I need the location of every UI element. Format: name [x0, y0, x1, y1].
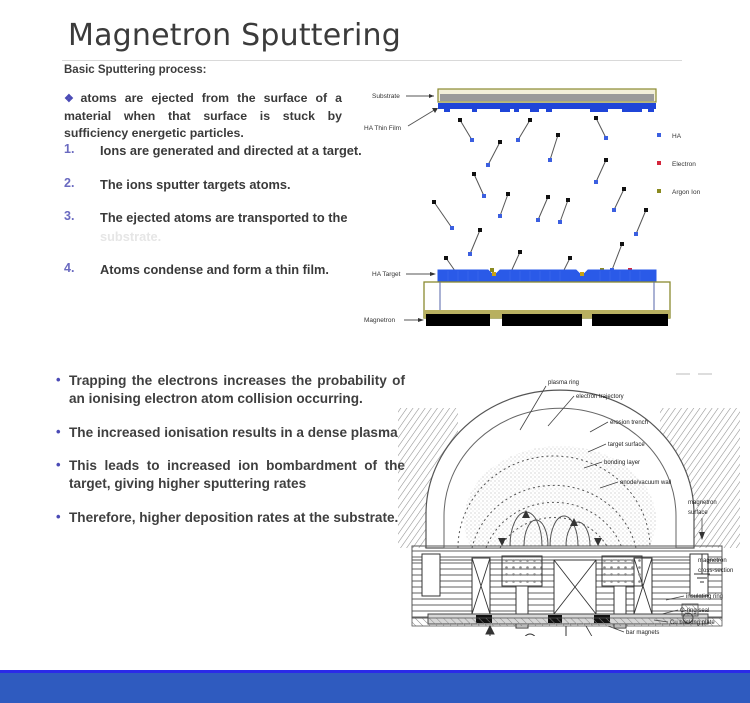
conclusion-bullet-list: Trapping the electrons increases the pro…: [55, 372, 405, 542]
step-text: Atoms condense and form a thin film.: [100, 261, 329, 280]
list-item: 3. The ejected atoms are transported to …: [64, 209, 364, 246]
lead-text: atoms are ejected from the surface of a …: [64, 91, 342, 140]
label-cu-backing-plate: Cu backing plate: [670, 620, 715, 626]
svg-text:HA Thin Film: HA Thin Film: [364, 125, 401, 132]
list-item: The increased ionisation results in a de…: [55, 424, 405, 442]
svg-text:Electron: Electron: [672, 161, 696, 168]
label-erosion-trench: erosion trench: [610, 420, 648, 426]
step-text-main: The ejected atoms are transported to the: [100, 210, 347, 225]
list-item: Trapping the electrons increases the pro…: [55, 372, 405, 409]
list-item: 1. Ions are generated and directed at a …: [64, 142, 364, 161]
step-text: Ions are generated and directed at a tar…: [100, 142, 362, 161]
footer-bar: [0, 673, 750, 703]
slide-canvas: Magnetron Sputtering Basic Sputtering pr…: [0, 0, 750, 703]
label-magnetron-cross-section-2: cross-section: [698, 568, 733, 574]
step-text-faded: substrate.: [100, 229, 161, 244]
label-insulating-ring: insulating ring: [686, 594, 723, 600]
step-text: The ejected atoms are transported to the…: [100, 209, 364, 246]
subtitle: Basic Sputtering process:: [64, 64, 207, 76]
label-target-surface: target surface: [608, 442, 645, 448]
label-bar-magnets: bar magnets: [626, 630, 659, 636]
svg-text:Substrate: Substrate: [372, 93, 400, 100]
label-electron-trajectory: electron trajectory: [576, 394, 624, 400]
label-o-ring-seal: O-ring seal: [680, 608, 709, 614]
step-text: The ions sputter targets atoms.: [100, 176, 291, 195]
step-number: 2.: [64, 176, 100, 195]
magnetron-cross-section-diagram: plasma ring electron trajectory erosion …: [398, 368, 750, 636]
step-number: 1.: [64, 142, 100, 161]
svg-text:HA: HA: [672, 133, 682, 140]
svg-text:HA Target: HA Target: [372, 271, 401, 278]
label-bonding-layer: bonding layer: [604, 460, 640, 466]
list-item: 4. Atoms condense and form a thin film.: [64, 261, 364, 280]
list-item: This leads to increased ion bombardment …: [55, 457, 405, 494]
list-item: 2. The ions sputter targets atoms.: [64, 176, 364, 195]
lead-paragraph: ❖atoms are ejected from the surface of a…: [64, 90, 342, 143]
diamond-bullet-icon: ❖: [64, 93, 79, 105]
label-magnetron-surface: magnetron: [688, 500, 717, 506]
step-number: 3.: [64, 209, 100, 246]
svg-text:Magnetron: Magnetron: [364, 317, 395, 324]
list-item: Therefore, higher deposition rates at th…: [55, 509, 405, 527]
svg-text:Argon Ion: Argon Ion: [672, 189, 701, 196]
step-number: 4.: [64, 261, 100, 280]
label-plasma-ring: plasma ring: [548, 380, 579, 386]
label-magnetron-surface-2: surface: [688, 510, 708, 516]
numbered-step-list: 1. Ions are generated and directed at a …: [64, 142, 364, 295]
label-anode-vacuum-wall: anode/vacuum wall: [620, 480, 671, 486]
sputtering-process-diagram: Substrate HA Thin Film: [360, 82, 745, 344]
page-title: Magnetron Sputtering: [68, 18, 401, 53]
title-divider: [62, 60, 682, 61]
